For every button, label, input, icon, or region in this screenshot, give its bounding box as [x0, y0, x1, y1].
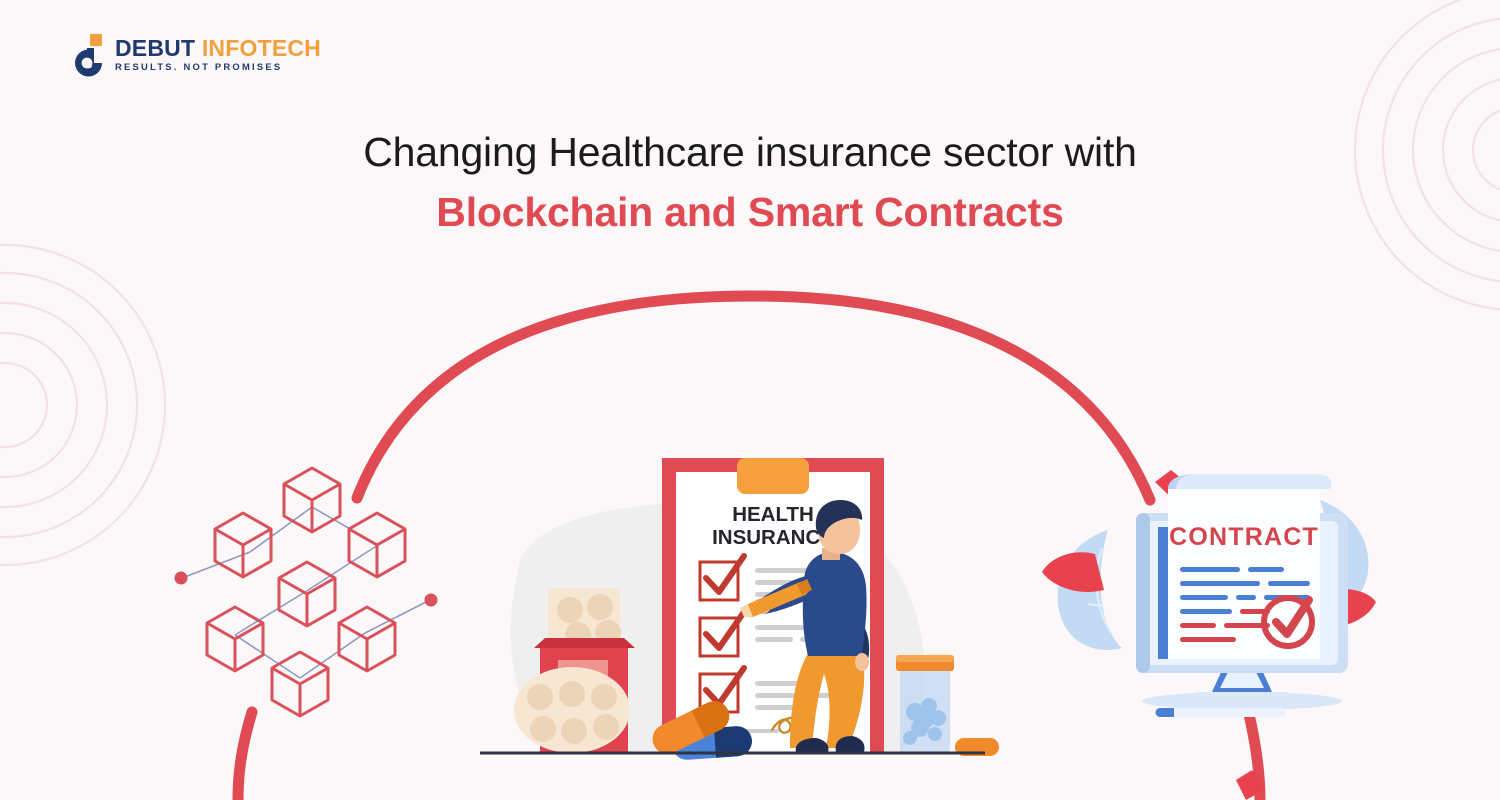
character-hand-lower — [855, 653, 869, 671]
clipboard-clip — [737, 458, 809, 494]
medicine-box-lid — [534, 638, 635, 648]
blockchain-cube — [279, 562, 335, 626]
health-insurance-scene: HEALTH INSURANCE — [480, 458, 999, 761]
clipboard-title-line1: HEALTH — [732, 503, 814, 526]
contract-title: CONTRACT — [1169, 523, 1319, 551]
poster-canvas: DEBUT INFOTECH RESULTS. NOT PROMISES Cha… — [0, 0, 1500, 800]
blockchain-cube — [339, 607, 395, 671]
blockchain-cube — [215, 513, 271, 577]
pill-jar-group — [896, 655, 999, 756]
contract-sheet — [1168, 489, 1320, 659]
hero-illustration: HEALTH INSURANCE — [0, 0, 1500, 800]
pill-jar-cap-highlight — [896, 655, 954, 662]
blockchain-cube — [284, 468, 340, 532]
monitor-pen — [1156, 708, 1287, 717]
blockchain-cube — [349, 513, 405, 577]
blockchain-endpoint-dot-right — [425, 594, 438, 607]
blockchain-cube — [272, 652, 328, 716]
monitor-bezel-left — [1136, 513, 1150, 673]
blockchain-node-network — [175, 468, 438, 716]
blockchain-endpoint-dot-left — [175, 572, 188, 585]
contract-scroll-top — [1168, 474, 1331, 489]
monitor-base — [1196, 692, 1288, 698]
smart-contract-monitor: CONTRACT — [1042, 470, 1376, 800]
character-sweater — [803, 552, 867, 656]
blockchain-cube — [207, 607, 263, 671]
clipboard-title-line2: INSURANCE — [712, 526, 834, 549]
bottom-left-arc — [238, 712, 252, 800]
